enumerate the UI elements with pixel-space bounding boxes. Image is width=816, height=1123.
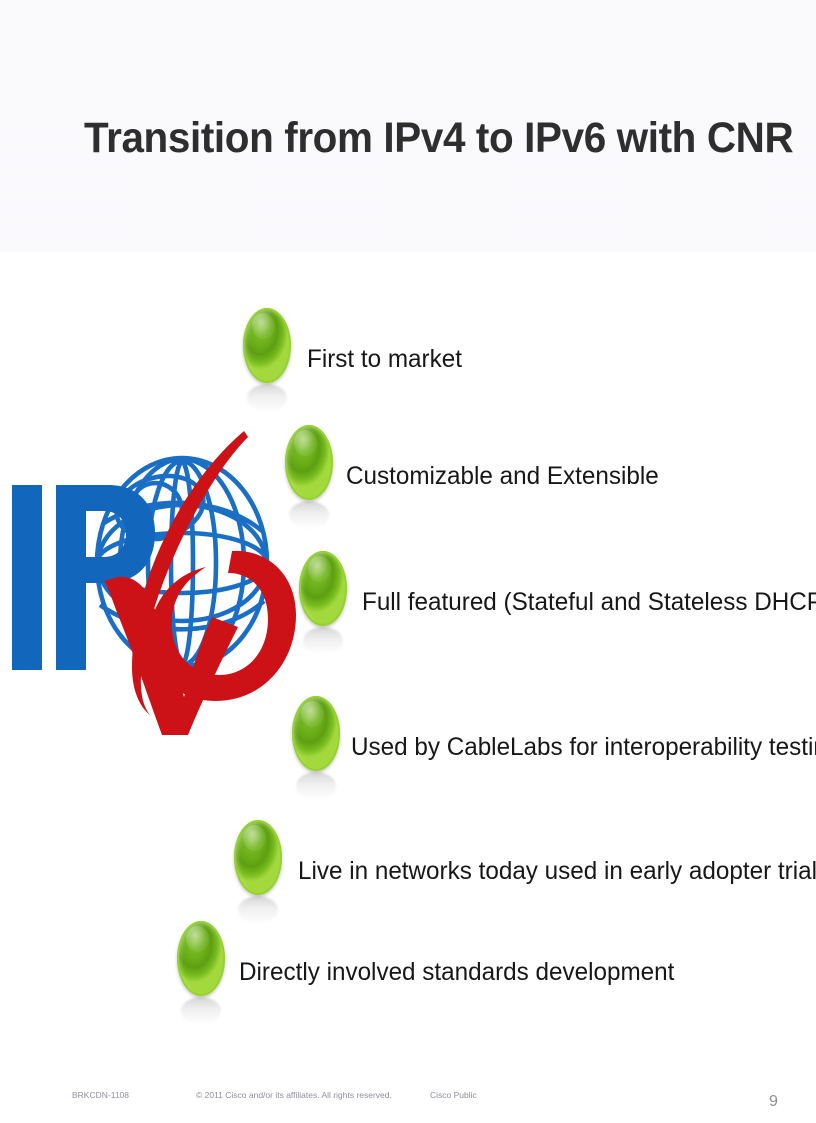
oval-shape (299, 551, 347, 626)
list-item-label: Full featured (Stateful and Stateless DH… (362, 589, 816, 617)
ipv6-logo-svg (0, 415, 310, 750)
list-item: Directly involved standards development (177, 921, 688, 1025)
oval-reflection (247, 384, 287, 412)
oval-shape (285, 425, 333, 500)
list-item: First to market (243, 308, 467, 412)
ipv6-logo (0, 415, 310, 750)
oval-reflection (238, 896, 278, 924)
list-item: Customizable and Extensible (285, 425, 668, 529)
oval-shape (177, 921, 225, 996)
oval-reflection (289, 501, 329, 529)
green-oval-bullet-icon (234, 820, 282, 924)
list-item-label: Used by CableLabs for interoperability t… (351, 734, 816, 762)
footer-session-id: BRKCDN-1108 (72, 1090, 129, 1100)
slide-footer: BRKCDN-1108 © 2011 Cisco and/or its affi… (0, 1090, 816, 1114)
oval-shape (243, 308, 291, 383)
oval-shape (234, 820, 282, 895)
list-item: Used by CableLabs for interoperability t… (292, 696, 816, 800)
list-item: Live in networks today used in early ado… (234, 820, 816, 924)
list-item: Full featured (Stateful and Stateless DH… (299, 551, 816, 655)
green-oval-bullet-icon (285, 425, 333, 529)
list-item-label: Customizable and Extensible (346, 463, 659, 491)
list-item-label: Live in networks today used in early ado… (298, 858, 816, 886)
oval-shape (292, 696, 340, 771)
green-oval-bullet-icon (292, 696, 340, 800)
footer-copyright: © 2011 Cisco and/or its affiliates. All … (196, 1090, 392, 1100)
page-number: 9 (769, 1093, 778, 1111)
slide-canvas: Transition from IPv4 to IPv6 with CNR (0, 0, 816, 1123)
footer-classification: Cisco Public (430, 1090, 477, 1100)
oval-reflection (303, 627, 343, 655)
green-oval-bullet-icon (177, 921, 225, 1025)
page-title: Transition from IPv4 to IPv6 with CNR (84, 116, 704, 161)
oval-reflection (181, 997, 221, 1025)
green-oval-bullet-icon (243, 308, 291, 412)
list-item-label: Directly involved standards development (239, 959, 674, 987)
list-item-label: First to market (307, 346, 462, 374)
oval-reflection (296, 772, 336, 800)
green-oval-bullet-icon (299, 551, 347, 655)
